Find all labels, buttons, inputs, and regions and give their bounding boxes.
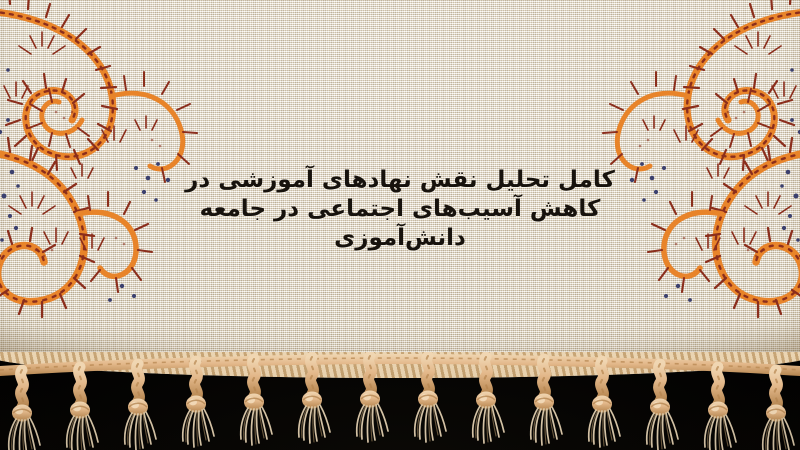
title-line-3: دانش‌آموزی <box>0 224 800 253</box>
title-line-2: کاهش آسیب‌های اجتماعی در جامعه <box>0 195 800 224</box>
title-card: کامل تحلیل نقش نهادهای آموزشی در کاهش آس… <box>0 0 800 450</box>
slide-title: کامل تحلیل نقش نهادهای آموزشی در کاهش آس… <box>0 166 800 253</box>
title-line-1: کامل تحلیل نقش نهادهای آموزشی در <box>0 166 800 195</box>
